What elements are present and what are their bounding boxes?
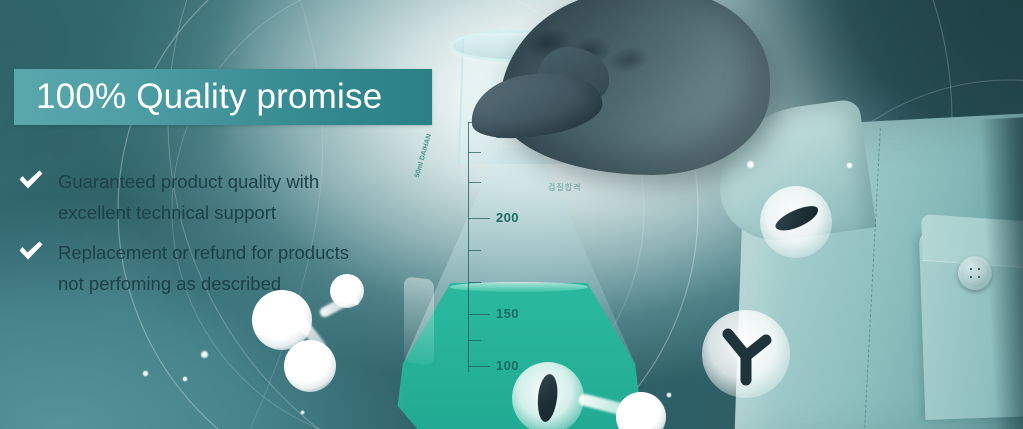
check-icon [18,170,44,192]
bacterium [536,373,560,423]
sparkle [264,322,270,328]
page-title: 100% Quality promise [14,77,382,117]
bacteria-sphere [512,362,584,429]
bacteria-sphere-upper [760,186,832,258]
bullet-line: not perfoming as described [58,268,448,299]
sparkle [666,392,672,398]
bullet-item: Replacement or refund for products not p… [18,237,448,299]
check-icon [18,241,44,263]
flask-liquid-surface [450,282,588,292]
sparkle [182,376,188,382]
flask-tick-minor-4 [468,282,481,283]
sparkle [846,162,853,169]
bullet-line: Replacement or refund for products [58,237,448,268]
bullet-line: excellent technical support [58,197,448,228]
flask-tick-minor-5 [468,340,481,341]
sparkle [200,350,209,359]
bacterium [773,201,822,235]
molecule-node [284,340,336,392]
hand-holding-flask [430,0,770,220]
quality-promise-banner: 250 ±5% 200 150 100 50ml DAIHAN 검질합격 [0,0,1023,429]
bullet-item: Guaranteed product quality with excellen… [18,166,448,228]
antibody-icon [702,310,790,398]
antibody-sphere [702,310,790,398]
flask-label-150: 150 [496,306,519,321]
flask-tick-minor-3 [468,250,481,251]
title-banner: 100% Quality promise [14,69,432,125]
bullet-list: Guaranteed product quality with excellen… [18,166,448,308]
sparkle [746,160,755,169]
flask-tick-150 [468,314,490,315]
flask-label-100: 100 [496,358,519,373]
sparkle [142,370,149,377]
bullet-line: Guaranteed product quality with [58,166,448,197]
flask-tick-100 [468,366,490,367]
sparkle [300,410,305,415]
